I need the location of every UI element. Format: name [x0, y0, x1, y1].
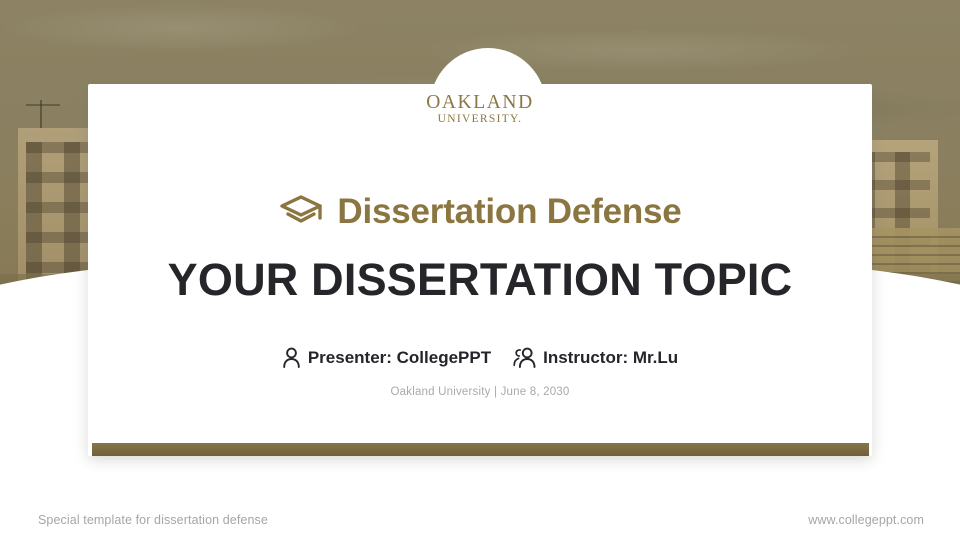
people-icon [513, 347, 536, 368]
content-card-gold-bar [92, 443, 869, 456]
slide-meta: Oakland University | June 8, 2030 [0, 386, 960, 398]
university-logo: OAKLAND UNIVERSITY. [0, 93, 960, 125]
person-icon [282, 347, 301, 368]
defense-heading-label: Dissertation Defense [337, 194, 681, 229]
presenter-label: Presenter: CollegePPT [308, 348, 491, 368]
people-row: Presenter: CollegePPT Instructor: Mr.Lu [0, 347, 960, 368]
graduation-cap-icon [278, 192, 324, 230]
page-title: YOUR DISSERTATION TOPIC [0, 255, 960, 305]
footer-left-text: Special template for dissertation defens… [38, 513, 268, 527]
presenter-item: Presenter: CollegePPT [282, 347, 491, 368]
university-logo-subtitle: UNIVERSITY. [0, 114, 960, 126]
instructor-item: Instructor: Mr.Lu [513, 347, 678, 368]
defense-heading: Dissertation Defense [0, 192, 960, 230]
university-logo-name: OAKLAND [0, 93, 960, 113]
footer-right-url[interactable]: www.collegeppt.com [808, 513, 924, 527]
instructor-label: Instructor: Mr.Lu [543, 348, 678, 368]
presentation-slide: OAKLAND UNIVERSITY. Dissertation Defense… [0, 0, 960, 540]
